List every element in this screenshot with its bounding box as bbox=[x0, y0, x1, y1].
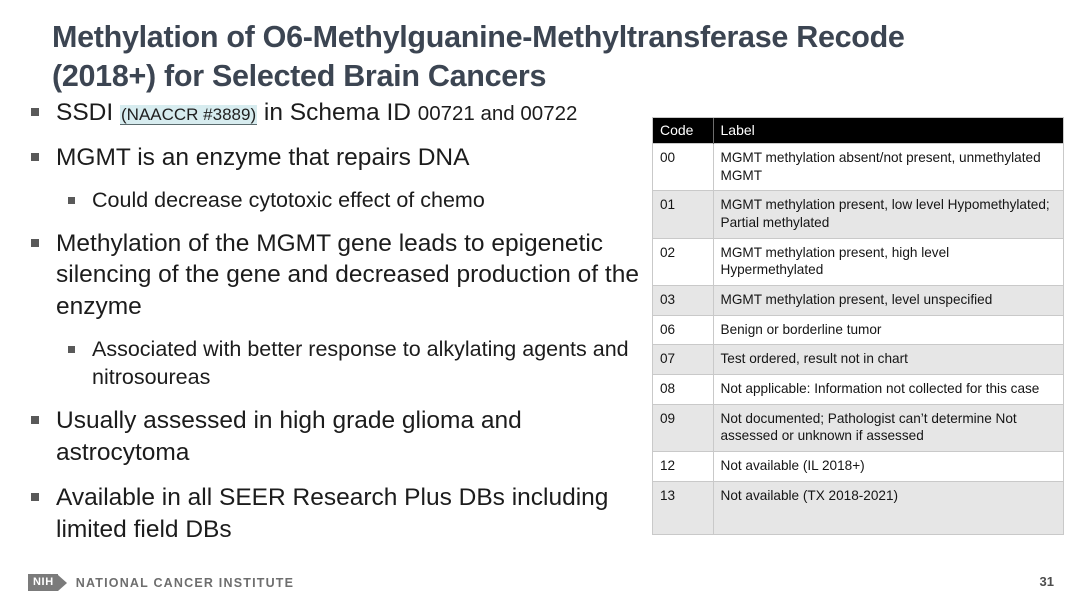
chevron-right-icon bbox=[58, 575, 67, 591]
cell-label: MGMT methylation present, high level Hyp… bbox=[713, 238, 1063, 285]
bullet-marker-icon bbox=[31, 153, 39, 161]
cell-code: 12 bbox=[653, 452, 713, 482]
table-row: 02 MGMT methylation present, high level … bbox=[653, 238, 1063, 285]
table-row: 09 Not documented; Pathologist can’t det… bbox=[653, 404, 1063, 451]
list-item-label: Usually assessed in high grade glioma an… bbox=[56, 407, 522, 466]
bullet-text-middle: in Schema ID bbox=[257, 99, 418, 126]
cell-code: 07 bbox=[653, 345, 713, 375]
cell-label: Not applicable: Information not collecte… bbox=[713, 375, 1063, 405]
list-item-label: Available in all SEER Research Plus DBs … bbox=[56, 484, 608, 543]
column-header-code: Code bbox=[653, 118, 713, 144]
cell-code: 08 bbox=[653, 375, 713, 405]
table-row: 01 MGMT methylation present, low level H… bbox=[653, 191, 1063, 238]
bullet-text-suffix: 00721 and 00722 bbox=[418, 102, 578, 125]
cell-label: MGMT methylation present, low level Hypo… bbox=[713, 191, 1063, 238]
table-row: 06 Benign or borderline tumor bbox=[653, 315, 1063, 345]
list-item: Available in all SEER Research Plus DBs … bbox=[28, 482, 640, 546]
list-item-label: Could decrease cytotoxic effect of chemo bbox=[92, 188, 485, 212]
institute-label: NATIONAL CANCER INSTITUTE bbox=[76, 576, 294, 590]
cell-code: 13 bbox=[653, 481, 713, 534]
list-item: Associated with better response to alkyl… bbox=[28, 336, 640, 392]
cell-code: 09 bbox=[653, 404, 713, 451]
cell-code: 00 bbox=[653, 144, 713, 191]
cell-label: Not available (TX 2018-2021) bbox=[713, 481, 1063, 534]
cell-code: 01 bbox=[653, 191, 713, 238]
table-row: 08 Not applicable: Information not colle… bbox=[653, 375, 1063, 405]
list-item: Methylation of the MGMT gene leads to ep… bbox=[28, 228, 640, 324]
list-item-label: MGMT is an enzyme that repairs DNA bbox=[56, 144, 469, 171]
nih-logo-icon: NIH bbox=[28, 574, 67, 591]
table-row: 00 MGMT methylation absent/not present, … bbox=[653, 144, 1063, 191]
cell-code: 02 bbox=[653, 238, 713, 285]
page-title: Methylation of O6-Methylguanine-Methyltr… bbox=[52, 18, 1012, 96]
bullet-text-prefix: SSDI bbox=[56, 99, 120, 126]
list-item: Could decrease cytotoxic effect of chemo bbox=[28, 187, 640, 215]
cell-code: 03 bbox=[653, 286, 713, 316]
bullet-marker-icon bbox=[31, 239, 39, 247]
bullet-marker-icon bbox=[68, 197, 75, 204]
table-header-row: Code Label bbox=[653, 118, 1063, 144]
table-row: 12 Not available (IL 2018+) bbox=[653, 452, 1063, 482]
bullet-list: SSDI (NAACCR #3889) in Schema ID 00721 a… bbox=[28, 97, 640, 558]
nci-logo: NIH NATIONAL CANCER INSTITUTE bbox=[28, 574, 294, 591]
nih-abbr-label: NIH bbox=[28, 574, 58, 591]
bullet-marker-icon bbox=[31, 108, 39, 116]
cell-label: Benign or borderline tumor bbox=[713, 315, 1063, 345]
list-item: SSDI (NAACCR #3889) in Schema ID 00721 a… bbox=[28, 97, 640, 129]
column-header-label: Label bbox=[713, 118, 1063, 144]
page-number: 31 bbox=[1040, 574, 1054, 589]
cell-label: Not documented; Pathologist can’t determ… bbox=[713, 404, 1063, 451]
bullet-marker-icon bbox=[68, 346, 75, 353]
table-row: 03 MGMT methylation present, level unspe… bbox=[653, 286, 1063, 316]
bullet-marker-icon bbox=[31, 493, 39, 501]
cell-code: 06 bbox=[653, 315, 713, 345]
table-row: 07 Test ordered, result not in chart bbox=[653, 345, 1063, 375]
table-row: 13 Not available (TX 2018-2021) bbox=[653, 481, 1063, 534]
cell-label: Not available (IL 2018+) bbox=[713, 452, 1063, 482]
list-item-label: Methylation of the MGMT gene leads to ep… bbox=[56, 230, 639, 321]
cell-label: Test ordered, result not in chart bbox=[713, 345, 1063, 375]
list-item-label: Associated with better response to alkyl… bbox=[92, 337, 629, 389]
list-item: Usually assessed in high grade glioma an… bbox=[28, 405, 640, 469]
cell-label: MGMT methylation present, level unspecif… bbox=[713, 286, 1063, 316]
list-item: MGMT is an enzyme that repairs DNA bbox=[28, 142, 640, 174]
bullet-marker-icon bbox=[31, 416, 39, 424]
cell-label: MGMT methylation absent/not present, unm… bbox=[713, 144, 1063, 191]
code-label-table: Code Label 00 MGMT methylation absent/no… bbox=[653, 118, 1063, 534]
naaccr-link[interactable]: (NAACCR #3889) bbox=[120, 105, 257, 125]
